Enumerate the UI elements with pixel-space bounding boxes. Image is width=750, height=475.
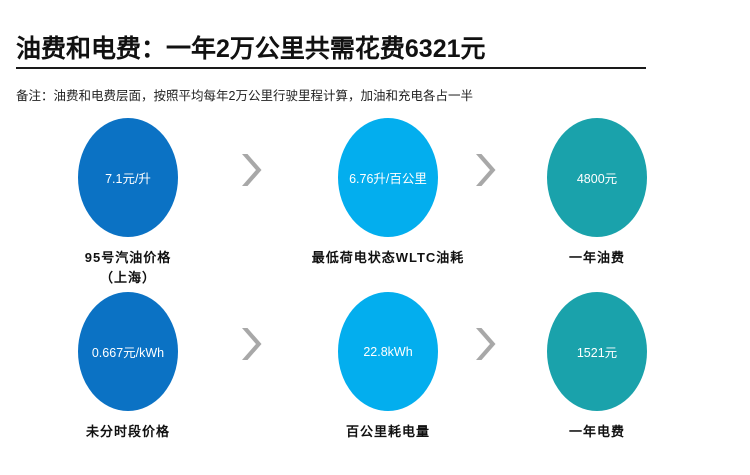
page-title-underline: 油费和电费：一年2万公里共需花费6321元	[16, 36, 646, 69]
flow-node-electricity-price: 0.667元/kWh 未分时段价格	[33, 292, 223, 442]
value-bubble: 7.1元/升	[78, 118, 178, 237]
node-label: 最低荷电状态WLTC油耗	[293, 248, 483, 268]
flow-row-electricity: 0.667元/kWh 未分时段价格 22.8kWh 百公里耗电量 1521元 一…	[0, 292, 750, 462]
node-label: 95号汽油价格 （上海）	[33, 248, 223, 288]
value-bubble: 22.8kWh	[338, 292, 438, 411]
chevron-right-icon	[470, 150, 496, 190]
flow-node-annual-fuel-cost: 4800元 一年油费	[502, 118, 692, 268]
page-title: 油费和电费：一年2万公里共需花费6321元	[16, 36, 646, 64]
chevron-right-icon	[470, 324, 496, 364]
chevron-right-icon	[236, 150, 262, 190]
node-label: 百公里耗电量	[293, 422, 483, 442]
flow-node-annual-electricity-cost: 1521元 一年电费	[502, 292, 692, 442]
value-bubble: 4800元	[547, 118, 647, 237]
node-label: 未分时段价格	[33, 422, 223, 442]
value-bubble: 6.76升/百公里	[338, 118, 438, 237]
chevron-right-icon	[236, 324, 262, 364]
node-label: 一年油费	[502, 248, 692, 268]
flow-row-fuel: 7.1元/升 95号汽油价格 （上海） 6.76升/百公里 最低荷电状态WLTC…	[0, 118, 750, 288]
value-bubble: 1521元	[547, 292, 647, 411]
page-subtitle: 备注：油费和电费层面，按照平均每年2万公里行驶里程计算，加油和充电各占一半	[16, 85, 473, 104]
flow-node-fuel-consumption: 6.76升/百公里 最低荷电状态WLTC油耗	[293, 118, 483, 268]
value-bubble: 0.667元/kWh	[78, 292, 178, 411]
flow-node-electricity-consumption: 22.8kWh 百公里耗电量	[293, 292, 483, 442]
flow-node-fuel-price: 7.1元/升 95号汽油价格 （上海）	[33, 118, 223, 288]
node-label: 一年电费	[502, 422, 692, 442]
